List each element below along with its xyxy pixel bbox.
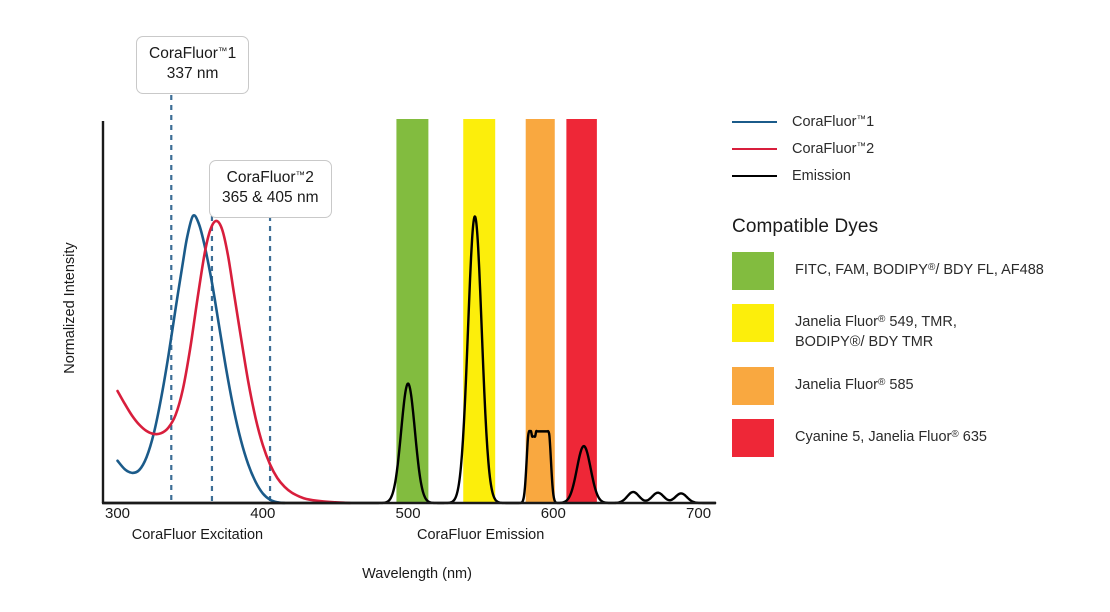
x-axis-title: Wavelength (nm) [287,566,547,582]
dye-name-rest: 585 [885,377,913,393]
emission-region-label: CoraFluor Emission [391,527,571,543]
dye-label: Cyanine 5, Janelia Fluor® 635 [795,419,987,448]
x-tick-700: 700 [669,505,729,522]
x-tick-300: 300 [88,505,148,522]
trademark-icon: ™ [296,170,306,181]
callout-corafluor1: CoraFluor™1 337 nm [136,36,249,94]
legend-series-num: 1 [866,114,874,130]
callout-corafluor2: CoraFluor™2 365 & 405 nm [209,160,332,218]
excitation-region-label: CoraFluor Excitation [107,527,287,543]
callout-cf2-num: 2 [305,169,314,186]
registered-icon: ® [951,429,958,440]
dye-color-swatch [732,304,774,342]
legend-series-row-3: Emission [732,162,1110,189]
compatible-dyes-legend: FITC, FAM, BODIPY®/ BDY FL, AF488Janelia… [732,252,1110,457]
excitation-curve-1 [118,215,285,503]
trademark-icon: ™ [856,114,866,125]
dye-name-rest: 635 [959,429,987,445]
legend-series-label: CoraFluor™2 [792,141,874,157]
x-tick-600: 600 [523,505,583,522]
dye-label: Janelia Fluor® 549, TMR, BODIPY®/ BDY TM… [795,304,957,353]
callout-cf2-name: CoraFluor [227,169,296,186]
dye-label: Janelia Fluor® 585 [795,367,914,396]
emission-band-3 [566,119,597,503]
callout-cf1-line2: 337 nm [149,64,236,84]
dye-name: Cyanine 5, Janelia Fluor [795,429,951,445]
dye-color-swatch [732,419,774,457]
legend-panel: CoraFluor™1CoraFluor™2Emission Compatibl… [732,108,1110,471]
dye-name-rest: / BDY FL, AF488 [935,262,1044,278]
dye-label: FITC, FAM, BODIPY®/ BDY FL, AF488 [795,252,1044,281]
legend-series-name: CoraFluor [792,114,856,130]
chart-page: CoraFluor™1 337 nm CoraFluor™2 365 & 405… [0,0,1110,612]
dye-legend-row-3: Janelia Fluor® 585 [732,367,1110,405]
callout-cf1-name: CoraFluor [149,45,218,62]
dye-name: Janelia Fluor [795,314,878,330]
legend-line-swatch [732,148,777,150]
excitation-curve-2 [118,221,350,503]
legend-series-label: Emission [792,168,851,184]
compatible-dyes-title: Compatible Dyes [732,216,1110,238]
dye-color-swatch [732,367,774,405]
series-legend: CoraFluor™1CoraFluor™2Emission [732,108,1110,189]
legend-line-swatch [732,175,777,177]
y-axis-title: Normalized Intensity [62,218,78,398]
x-tick-500: 500 [378,505,438,522]
trademark-icon: ™ [856,141,866,152]
dye-color-swatch [732,252,774,290]
legend-series-name: Emission [792,168,851,184]
legend-series-row-2: CoraFluor™2 [732,135,1110,162]
emission-band-0 [396,119,428,503]
callout-cf1-num: 1 [228,45,237,62]
dye-name: Janelia Fluor [795,377,878,393]
callout-cf2-line1: CoraFluor™2 [227,169,314,186]
legend-line-swatch [732,121,777,123]
legend-series-num: 2 [866,141,874,157]
dye-name: FITC, FAM, BODIPY [795,262,928,278]
legend-series-name: CoraFluor [792,141,856,157]
legend-series-label: CoraFluor™1 [792,114,874,130]
callout-cf2-line2: 365 & 405 nm [222,188,319,208]
legend-series-row-1: CoraFluor™1 [732,108,1110,135]
callout-cf1-line1: CoraFluor™1 [149,45,236,62]
dye-legend-row-2: Janelia Fluor® 549, TMR, BODIPY®/ BDY TM… [732,304,1110,353]
trademark-icon: ™ [218,46,228,57]
x-tick-400: 400 [233,505,293,522]
dye-legend-row-4: Cyanine 5, Janelia Fluor® 635 [732,419,1110,457]
dye-legend-row-1: FITC, FAM, BODIPY®/ BDY FL, AF488 [732,252,1110,290]
